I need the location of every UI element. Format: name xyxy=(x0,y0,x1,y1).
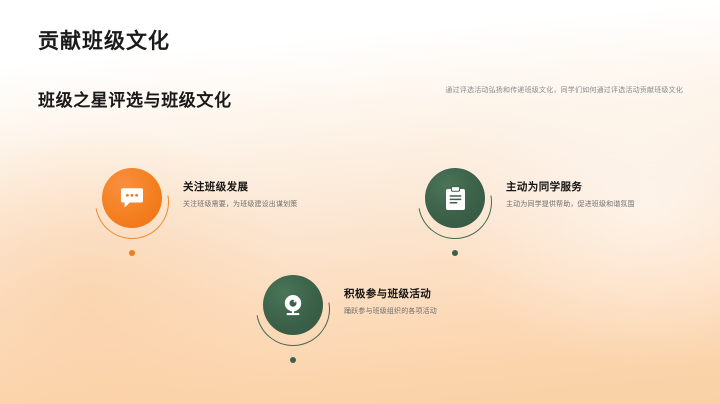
feature-description: 关注班级需要，为班级建设出谋划策 xyxy=(183,199,333,211)
feature-title: 主动为同学服务 xyxy=(506,179,656,194)
feature-description: 主动为同学提供帮助，促进班级和谐氛围 xyxy=(506,199,656,211)
badge-circle xyxy=(425,168,485,228)
clipboard-icon xyxy=(445,186,466,211)
feature-badge xyxy=(95,165,169,239)
webcam-icon xyxy=(281,293,305,317)
page-title: 贡献班级文化 xyxy=(38,25,170,55)
decorative-dot xyxy=(129,250,135,256)
intro-description: 通过评选活动弘扬和传递班级文化，同学们如何通过评选活动贡献班级文化 xyxy=(431,85,683,97)
feature-text: 主动为同学服务 主动为同学提供帮助，促进班级和谐氛围 xyxy=(506,179,656,211)
section-subtitle: 班级之星评选与班级文化 xyxy=(38,86,232,111)
background-glow-left xyxy=(0,120,300,404)
feature-badge xyxy=(418,165,492,239)
badge-circle xyxy=(263,275,323,335)
feature-text: 关注班级发展 关注班级需要，为班级建设出谋划策 xyxy=(183,179,333,211)
badge-circle xyxy=(102,168,162,228)
feature-description: 踊跃参与班级组织的各项活动 xyxy=(344,306,524,318)
chat-bubble-icon xyxy=(120,187,144,209)
decorative-dot xyxy=(452,250,458,256)
feature-title: 关注班级发展 xyxy=(183,179,333,194)
feature-text: 积极参与班级活动 踊跃参与班级组织的各项活动 xyxy=(344,286,524,318)
feature-title: 积极参与班级活动 xyxy=(344,286,524,301)
decorative-dot xyxy=(290,357,296,363)
feature-badge xyxy=(256,272,330,346)
presentation-slide: 贡献班级文化 班级之星评选与班级文化 通过评选活动弘扬和传递班级文化，同学们如何… xyxy=(0,0,720,404)
